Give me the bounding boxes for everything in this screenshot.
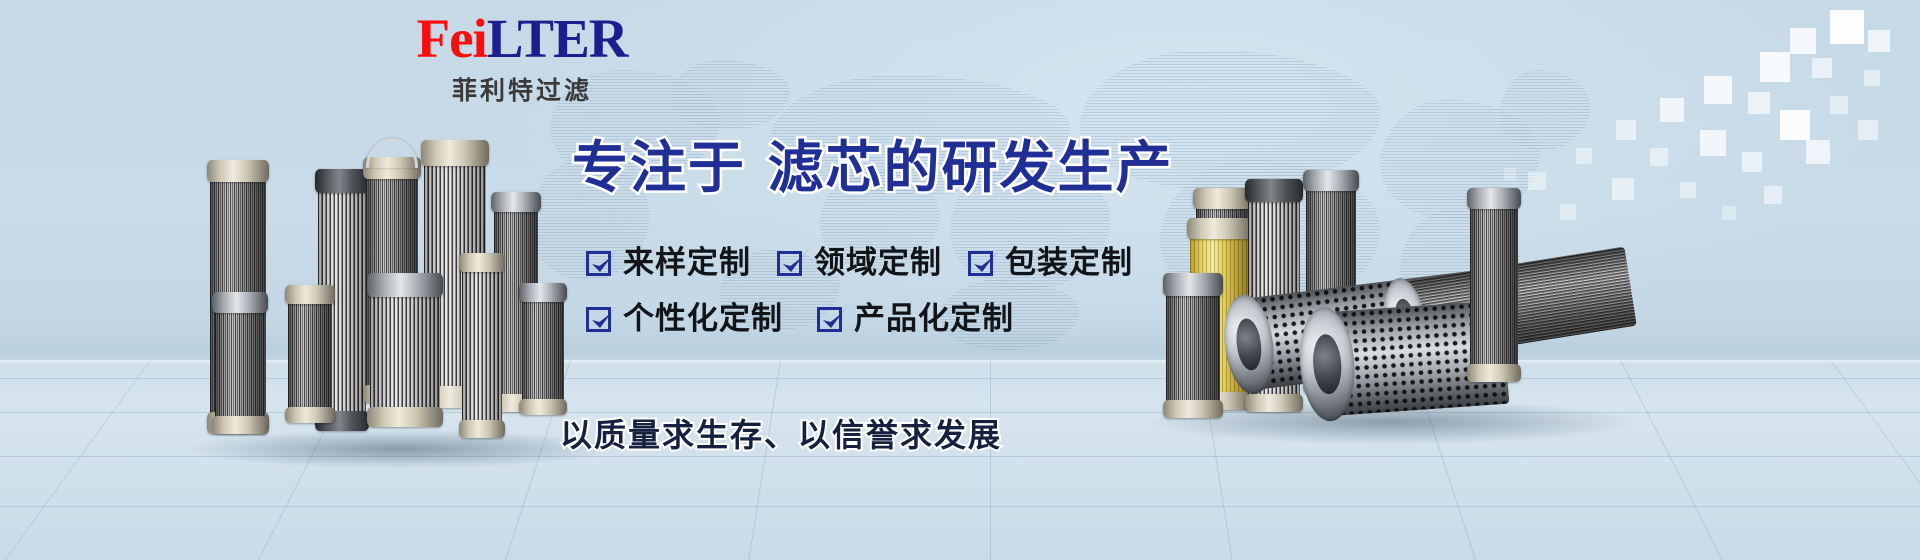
filter-end-cap xyxy=(212,416,268,434)
filter-end-cap xyxy=(1245,179,1303,202)
feature-label: 产品化定制 xyxy=(854,302,1014,336)
filter-cartridge xyxy=(288,292,332,418)
logo-word-primary: Fei xyxy=(416,8,486,69)
product-shadow xyxy=(190,430,610,468)
mosaic-square xyxy=(1812,58,1832,78)
feature-label: 包装定制 xyxy=(1005,246,1133,280)
feature-label: 领域定制 xyxy=(814,246,942,280)
mosaic-square xyxy=(1780,110,1810,140)
filter-cartridge xyxy=(1470,196,1518,376)
floor-line xyxy=(990,360,991,560)
feature-item[interactable]: 包装定制 xyxy=(968,246,1133,280)
filter-end-cap xyxy=(1245,394,1303,412)
mosaic-square xyxy=(1764,186,1782,204)
mosaic-square xyxy=(1858,120,1878,140)
filter-end-cap xyxy=(491,192,541,212)
filter-pleated-body xyxy=(462,260,502,432)
mosaic-square xyxy=(1528,172,1546,190)
filter-end-cap xyxy=(1467,364,1521,382)
filter-end-cap xyxy=(285,285,335,304)
filter-mesh-body xyxy=(1470,196,1518,376)
filter-cartridge xyxy=(522,290,564,410)
mosaic-square xyxy=(1748,92,1770,114)
logo-subtitle: 菲利特过滤 xyxy=(392,71,652,107)
mosaic-square xyxy=(1722,206,1736,220)
mosaic-square xyxy=(1830,10,1864,44)
filter-end-cap xyxy=(212,292,268,313)
mosaic-square xyxy=(1868,30,1890,52)
filter-end-cap xyxy=(519,283,567,302)
mosaic-square xyxy=(1704,76,1732,104)
filter-pleated-body xyxy=(370,282,440,420)
filter-end-cap xyxy=(315,169,369,193)
checkbox-checked-icon xyxy=(586,305,614,333)
filter-cartridge xyxy=(370,282,440,420)
filter-end-cap xyxy=(519,399,567,415)
mosaic-square xyxy=(1560,204,1576,220)
filter-mesh-body xyxy=(215,300,265,428)
filter-handle xyxy=(366,138,418,168)
mosaic-square xyxy=(1616,120,1636,140)
mosaic-square xyxy=(1504,168,1516,180)
feature-label: 个性化定制 xyxy=(623,302,783,336)
tagline-text: 以质量求生存、以信誉求发展 xyxy=(560,415,1002,455)
filter-mesh-body xyxy=(288,292,332,418)
checkbox-checked-icon xyxy=(817,305,845,333)
mosaic-square xyxy=(1700,130,1726,156)
filter-end-cap xyxy=(459,420,505,438)
filter-end-cap xyxy=(1467,188,1521,209)
filter-center-hole xyxy=(1233,317,1264,372)
mosaic-square xyxy=(1612,178,1634,200)
filter-center-hole xyxy=(1311,334,1343,395)
floor-line xyxy=(748,360,781,560)
mosaic-square xyxy=(1760,52,1790,82)
floor-line xyxy=(0,506,1920,507)
filter-end-cap xyxy=(367,407,443,427)
map-landmass xyxy=(670,60,790,130)
feature-list: 来样定制 领域定制 包装定制 xyxy=(586,246,1206,356)
checkbox-checked-icon xyxy=(777,249,805,277)
headline-text: 专注于 滤芯的研发生产 xyxy=(572,138,1174,200)
mosaic-square xyxy=(1576,148,1592,164)
checkbox-checked-icon xyxy=(586,249,614,277)
filter-cartridge xyxy=(215,300,265,428)
feature-label: 来样定制 xyxy=(623,246,751,280)
filter-end-cap xyxy=(1187,218,1251,239)
filter-end-cap xyxy=(367,273,443,297)
filter-end-cap xyxy=(1303,170,1359,191)
mosaic-square xyxy=(1830,96,1848,114)
filter-end-cap xyxy=(1163,400,1223,418)
feature-row: 个性化定制 产品化定制 xyxy=(586,302,1206,336)
mosaic-square xyxy=(1806,140,1830,164)
company-logo[interactable]: FeiLTER 菲利特过滤 xyxy=(392,8,652,107)
filter-end-cap xyxy=(459,253,505,272)
floor-line xyxy=(5,360,151,560)
filter-mesh-body xyxy=(522,290,564,410)
feature-item[interactable]: 领域定制 xyxy=(777,246,942,280)
filter-cartridge xyxy=(462,260,502,432)
mosaic-square xyxy=(1650,148,1668,166)
promotional-banner: FeiLTER 菲利特过滤 专注于 滤芯的研发生产 来样定制 领域定制 xyxy=(0,0,1920,560)
mosaic-square xyxy=(1864,70,1880,86)
filter-end-cap xyxy=(207,160,269,182)
checkbox-checked-icon xyxy=(968,249,996,277)
mosaic-square xyxy=(1660,98,1684,122)
filter-end-cap xyxy=(421,140,489,166)
feature-item[interactable]: 产品化定制 xyxy=(817,302,1014,336)
floor-line xyxy=(1830,360,1920,560)
filter-end-cap xyxy=(285,407,335,423)
mosaic-square xyxy=(1790,28,1816,54)
floor-line xyxy=(1620,360,1723,560)
mosaic-square xyxy=(1680,182,1696,198)
feature-item[interactable]: 个性化定制 xyxy=(586,302,783,336)
feature-item[interactable]: 来样定制 xyxy=(586,246,751,280)
mosaic-square xyxy=(1742,152,1762,172)
pixel-mosaic-decoration xyxy=(1360,0,1920,230)
logo-wordmark: FeiLTER xyxy=(392,8,652,70)
feature-row: 来样定制 领域定制 包装定制 xyxy=(586,246,1206,280)
logo-word-secondary: LTER xyxy=(487,8,628,69)
filter-end-cap xyxy=(1193,188,1251,209)
